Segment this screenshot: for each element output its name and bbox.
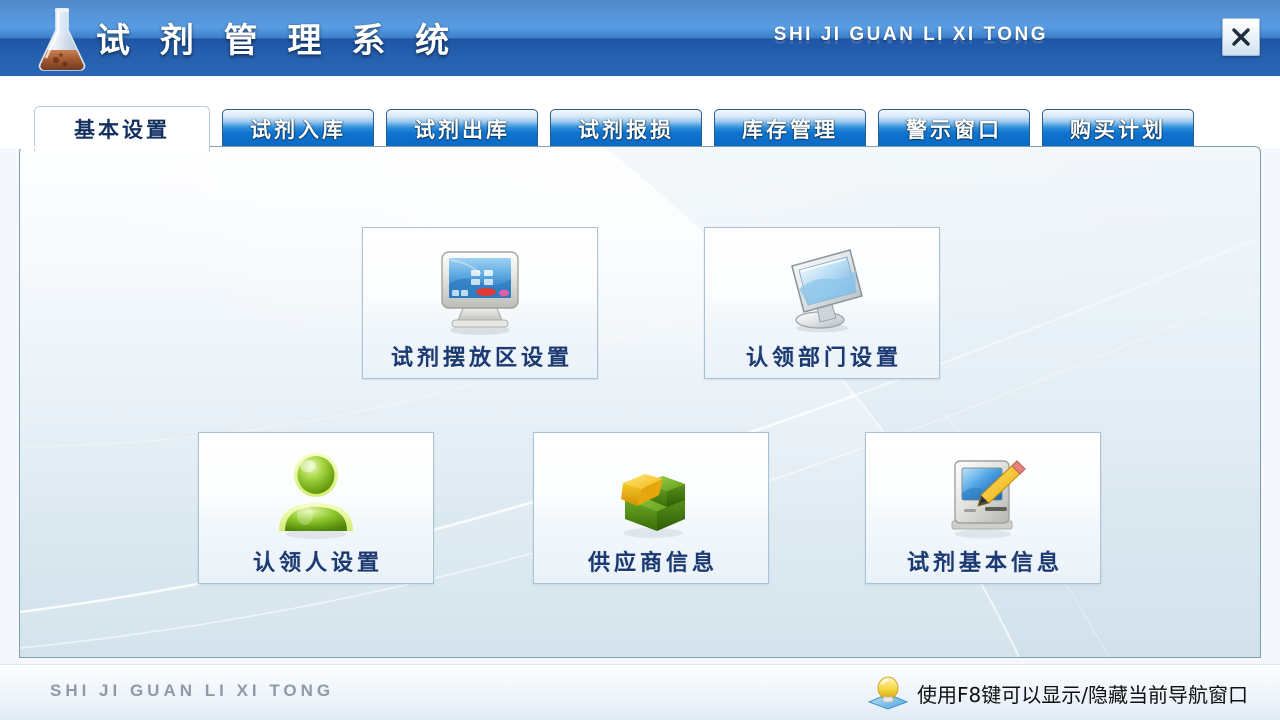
status-bar: SHI JI GUAN LI XI TONG — [0, 664, 1280, 720]
tab-reagent-damage[interactable]: 试剂报损 — [550, 109, 702, 149]
computer-pencil-icon-wrap — [933, 449, 1033, 541]
person-icon-wrap — [269, 449, 363, 541]
lcd-monitor-icon-wrap — [772, 244, 872, 336]
tile-label: 供应商信息 — [584, 545, 718, 577]
crt-monitor-icon-wrap — [428, 244, 532, 336]
crt-monitor-icon — [428, 244, 532, 336]
lcd-monitor-icon — [772, 244, 872, 336]
tile-label: 试剂基本信息 — [903, 545, 1063, 577]
close-button[interactable] — [1222, 18, 1260, 56]
page-title: 试 剂 管 理 系 统 — [96, 13, 458, 62]
tile-label: 试剂摆放区设置 — [387, 340, 573, 372]
tile-label: 认领部门设置 — [742, 340, 902, 372]
tab-reagent-outbound[interactable]: 试剂出库 — [386, 109, 538, 149]
lightbulb-icon — [867, 676, 909, 710]
close-icon — [1230, 26, 1252, 48]
title-pinyin-reflection: SHI JI GUAN LI XI TONG — [774, 24, 1048, 46]
tab-purchase-plan[interactable]: 购买计划 — [1042, 109, 1194, 149]
tab-bar: 基本设置试剂入库试剂出库试剂报损库存管理警示窗口购买计划 — [0, 76, 1280, 148]
tile-supplier-info[interactable]: 供应商信息 — [533, 432, 769, 584]
tab-reagent-inbound[interactable]: 试剂入库 — [222, 109, 374, 149]
tile-claim-department-settings[interactable]: 认领部门设置 — [704, 227, 940, 379]
boxes-icon-wrap — [601, 449, 701, 541]
tab-panel-seam — [20, 146, 140, 149]
tile-reagent-basic-info[interactable]: 试剂基本信息 — [865, 432, 1101, 584]
footer-tip: 使用F8键可以显示/隐藏当前导航窗口 — [867, 676, 1248, 710]
tab-warning-window[interactable]: 警示窗口 — [878, 109, 1030, 149]
footer-pinyin: SHI JI GUAN LI XI TONG — [50, 681, 334, 701]
tile-reagent-area-settings[interactable]: 试剂摆放区设置 — [362, 227, 598, 379]
title-bar: 试 剂 管 理 系 统 SHI JI GUAN LI XI TONG SHI J… — [0, 0, 1280, 76]
flask-icon — [34, 6, 90, 72]
person-icon — [269, 449, 363, 541]
content-panel: 试剂摆放区设置 认领部门设置 — [19, 146, 1261, 658]
tile-label: 认领人设置 — [249, 545, 383, 577]
tab-inventory-management[interactable]: 库存管理 — [714, 109, 866, 149]
tile-claimant-settings[interactable]: 认领人设置 — [198, 432, 434, 584]
boxes-icon — [601, 449, 701, 541]
computer-pencil-icon — [933, 449, 1033, 541]
app-window: 试 剂 管 理 系 统 SHI JI GUAN LI XI TONG SHI J… — [0, 0, 1280, 720]
footer-tip-text: 使用F8键可以显示/隐藏当前导航窗口 — [917, 679, 1248, 708]
